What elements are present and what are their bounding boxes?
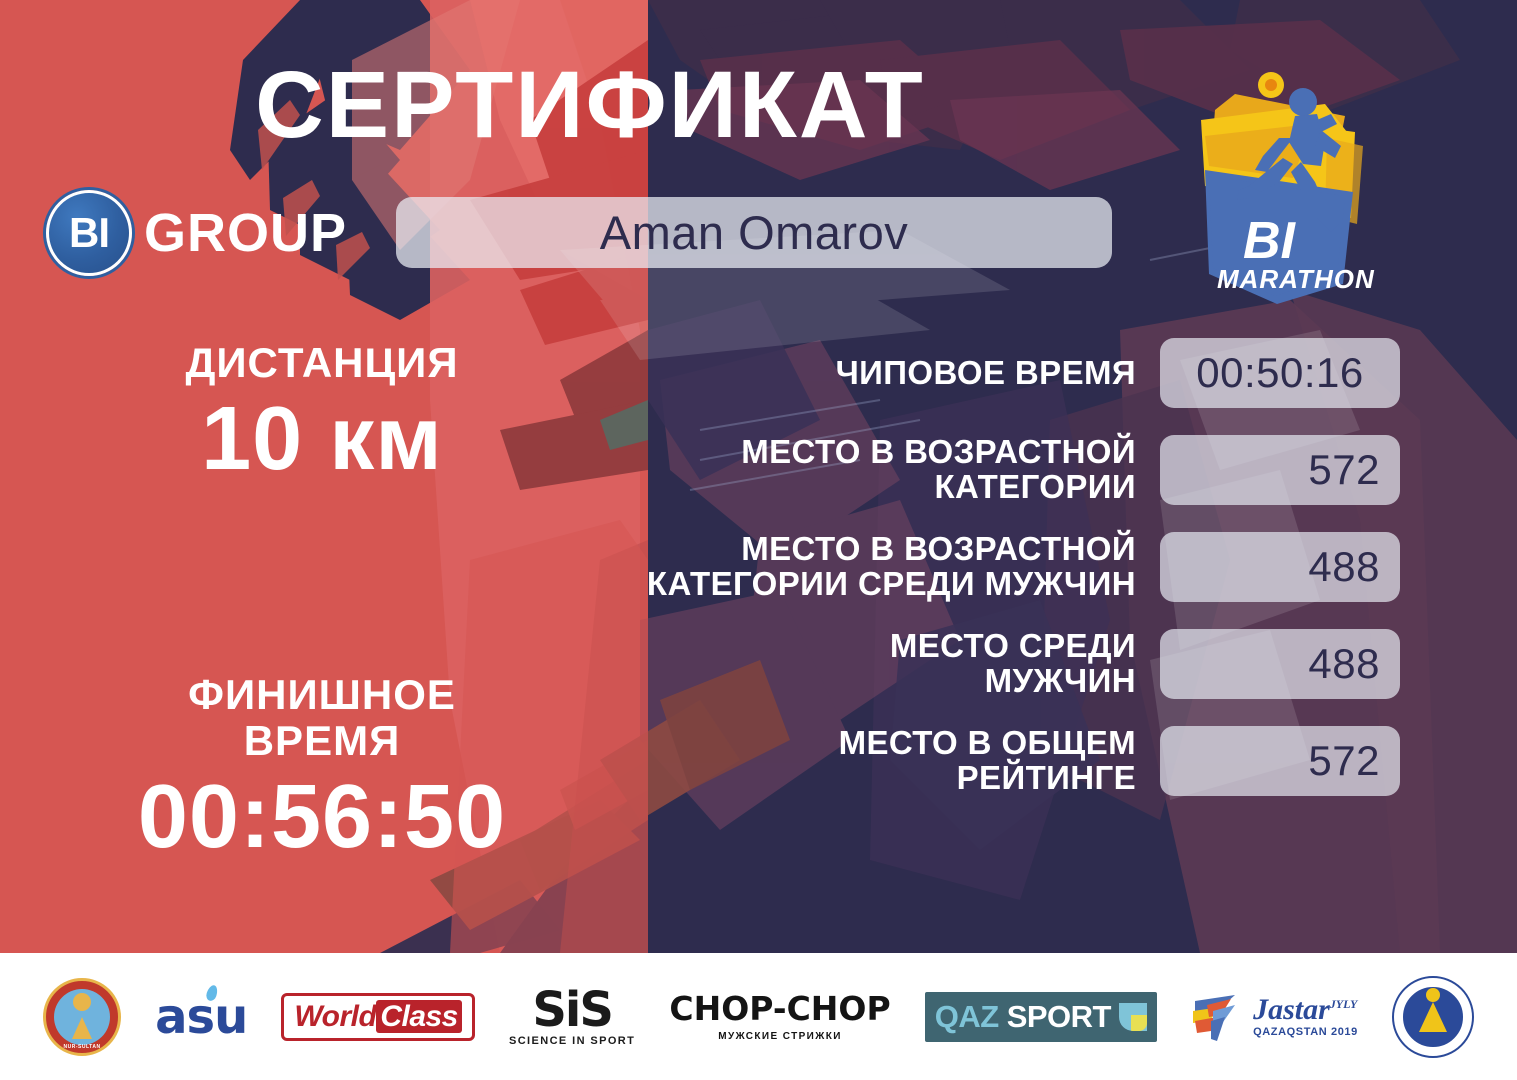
stat-row: МЕСТО В ВОЗРАСТНОЙ КАТЕГОРИИ СРЕДИ МУЖЧИ… [600, 532, 1400, 602]
stat-label: МЕСТО В ОБЩЕМ РЕЙТИНГЕ [600, 726, 1160, 796]
sponsor-sis: SiS SCIENCE IN SPORT [509, 967, 635, 1067]
chop-chop-logo: CHOP-CHOP МУЖСКИЕ СТРИЖКИ [669, 992, 890, 1042]
chop-chop-tagline: МУЖСКИЕ СТРИЖКИ [669, 1032, 890, 1042]
jastar-mark-icon [1191, 991, 1247, 1043]
nur-sultan-label: NUR-SULTAN [46, 1044, 118, 1050]
page-title: СЕРТИФИКАТ [0, 58, 1180, 153]
qazsport-text2: SPORT [1007, 999, 1111, 1035]
marathon-logo-bi: BI [1243, 212, 1297, 270]
athlete-name-field: Aman Omarov [396, 197, 1112, 268]
sponsor-asu: asu [155, 967, 247, 1067]
stat-value: 488 [1308, 543, 1380, 591]
jastar-logo: JastarJYLY QAZAQSTAN 2019 [1191, 991, 1358, 1043]
jastar-wordmark: JastarJYLY [1253, 995, 1358, 1025]
sis-logo: SiS SCIENCE IN SPORT [509, 986, 635, 1047]
qazsport-mark-icon [1119, 1003, 1147, 1031]
bi-group-logo: BI GROUP [46, 190, 347, 276]
stat-row: ЧИПОВОЕ ВРЕМЯ 00:50:16 [600, 338, 1400, 408]
world-class-logo: WorldClass [281, 993, 475, 1041]
stat-row: МЕСТО СРЕДИ МУЖЧИН 488 [600, 629, 1400, 699]
stat-value-box: 572 [1160, 435, 1400, 505]
stat-value: 572 [1308, 737, 1380, 785]
jastar-sup: JYLY [1330, 997, 1358, 1011]
sponsor-footer: NUR-SULTAN asu WorldClass SiS SCIENCE IN… [0, 953, 1517, 1080]
stat-value-box: 572 [1160, 726, 1400, 796]
distance-value: 10 км [62, 389, 582, 490]
stat-row: МЕСТО В ВОЗРАСТНОЙ КАТЕГОРИИ 572 [600, 435, 1400, 505]
distance-label: ДИСТАНЦИЯ [62, 340, 582, 385]
finish-time-block: ФИНИШНОЕ ВРЕМЯ 00:56:50 [62, 672, 582, 868]
left-stats-column: ДИСТАНЦИЯ 10 км ФИНИШНОЕ ВРЕМЯ 00:56:50 [62, 340, 582, 868]
right-stats-column: ЧИПОВОЕ ВРЕМЯ 00:50:16 МЕСТО В ВОЗРАСТНО… [600, 338, 1400, 823]
sponsor-nur-sultan: NUR-SULTAN [43, 967, 121, 1067]
jastar-text: Jastar [1253, 993, 1330, 1026]
bi-badge-icon: BI [46, 190, 132, 276]
stat-value-box: 488 [1160, 532, 1400, 602]
world-class-text1: World [294, 1000, 376, 1033]
stat-row: МЕСТО В ОБЩЕМ РЕЙТИНГЕ 572 [600, 726, 1400, 796]
sis-tagline: SCIENCE IN SPORT [509, 1036, 635, 1047]
bi-badge-text: BI [69, 209, 109, 257]
stat-value-box: 00:50:16 [1160, 338, 1400, 408]
stat-label: МЕСТО В ВОЗРАСТНОЙ КАТЕГОРИИ [600, 435, 1160, 505]
sponsor-qazsport: QAZSPORT [925, 967, 1157, 1067]
sponsor-jastar-jyly: JastarJYLY QAZAQSTAN 2019 [1191, 967, 1358, 1067]
stat-value: 488 [1308, 640, 1380, 688]
sponsor-ministry [1392, 967, 1474, 1067]
stat-value: 572 [1308, 446, 1380, 494]
stat-value-box: 488 [1160, 629, 1400, 699]
bi-group-word: GROUP [144, 202, 347, 264]
finish-time-label-line1: ФИНИШНОЕ [62, 672, 582, 717]
qazsport-logo: QAZSPORT [925, 992, 1157, 1042]
asu-text: asu [155, 989, 247, 1045]
asu-logo-text: asu [155, 989, 247, 1045]
sponsor-chop-chop: CHOP-CHOP МУЖСКИЕ СТРИЖКИ [669, 967, 890, 1067]
stat-value: 00:50:16 [1196, 349, 1364, 397]
qazsport-text1: QAZ [935, 999, 999, 1035]
finish-time-label-line2: ВРЕМЯ [62, 718, 582, 763]
bi-marathon-logo: BI MARATHON [1175, 58, 1390, 313]
chop-chop-wordmark: CHOP-CHOP [669, 992, 890, 1025]
nur-sultan-emblem-icon: NUR-SULTAN [43, 978, 121, 1056]
certificate-page: СЕРТИФИКАТ BI GROUP Aman Omarov [0, 0, 1517, 1080]
stat-label: МЕСТО В ВОЗРАСТНОЙ КАТЕГОРИИ СРЕДИ МУЖЧИ… [600, 532, 1160, 602]
sis-wordmark: SiS [509, 986, 635, 1034]
marathon-logo-marathon: MARATHON [1217, 264, 1375, 294]
finish-time-value: 00:56:50 [62, 767, 582, 868]
ministry-emblem-icon [1392, 976, 1474, 1058]
athlete-name: Aman Omarov [600, 205, 908, 260]
stat-label: ЧИПОВОЕ ВРЕМЯ [600, 356, 1160, 391]
world-class-text2: Class [376, 1000, 462, 1033]
distance-block: ДИСТАНЦИЯ 10 км [62, 340, 582, 490]
stat-label: МЕСТО СРЕДИ МУЖЧИН [600, 629, 1160, 699]
sponsor-world-class: WorldClass [281, 967, 475, 1067]
jastar-tagline: QAZAQSTAN 2019 [1253, 1027, 1358, 1038]
